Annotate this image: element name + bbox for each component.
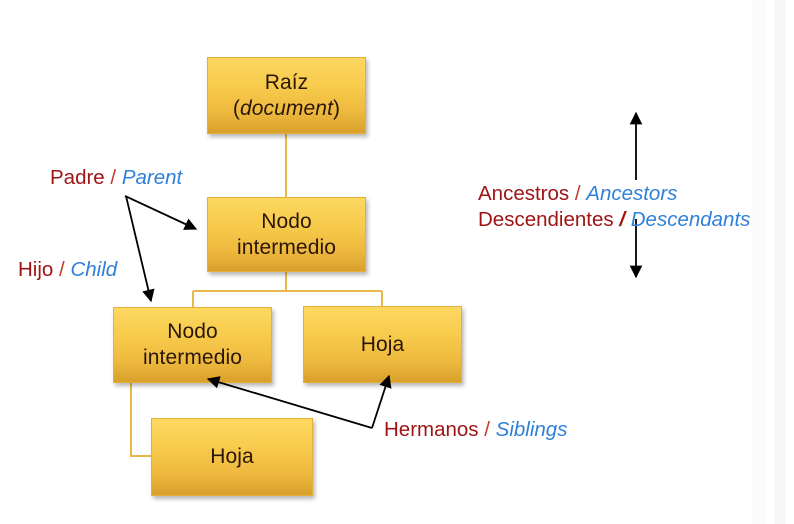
annotation-siblings: Hermanos / Siblings xyxy=(384,418,567,442)
annotation-child: Hijo / Child xyxy=(18,258,117,282)
annotation-parent: Padre / Parent xyxy=(50,166,182,190)
annotation-separator: / xyxy=(110,166,116,189)
annotation-ancestors: Ancestros / Ancestors xyxy=(478,182,677,206)
annotation-child-es: Hijo xyxy=(18,258,53,281)
annotation-separator: / xyxy=(619,208,625,231)
annotation-ancestors-en: Ancestors xyxy=(586,182,677,205)
annotation-siblings-es: Hermanos xyxy=(384,418,479,441)
diagram-canvas: Raíz (document) Nodo intermedio Nodo int… xyxy=(0,0,794,524)
annotation-descendants-es: Descendientes xyxy=(478,208,614,231)
annotation-separator: / xyxy=(575,182,581,205)
annotation-separator: / xyxy=(59,258,65,281)
annotation-child-en: Child xyxy=(70,258,117,281)
arrow-parent-to-mid xyxy=(125,196,196,229)
annotation-arrow-layer xyxy=(0,0,794,524)
annotation-parent-en: Parent xyxy=(122,166,182,189)
annotation-separator: / xyxy=(484,418,490,441)
annotation-descendants-en: Descendants xyxy=(631,208,751,231)
annotation-descendants: Descendientes / Descendants xyxy=(478,208,750,232)
annotation-parent-es: Padre xyxy=(50,166,105,189)
arrow-child-to-mid2 xyxy=(126,196,151,301)
annotation-ancestors-es: Ancestros xyxy=(478,182,569,205)
annotation-siblings-en: Siblings xyxy=(496,418,568,441)
arrow-siblings-to-mid2 xyxy=(208,379,372,428)
